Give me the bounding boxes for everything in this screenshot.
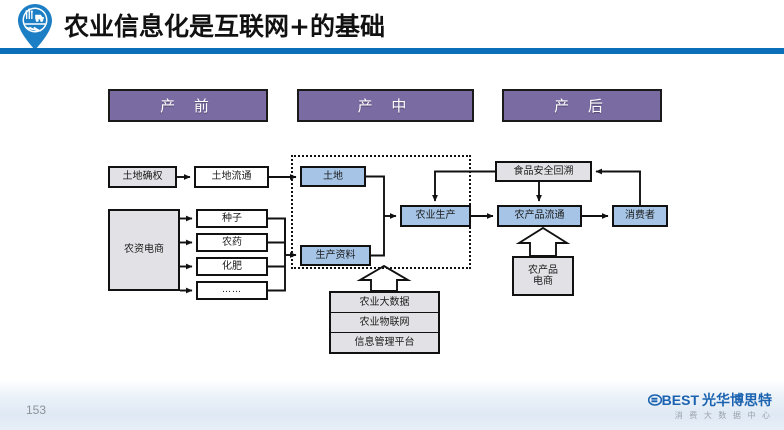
node-information-platform-stack: 农业大数据农业物联网信息管理平台 [329, 291, 440, 354]
node-produce-ecom-line: 电商 [533, 276, 553, 288]
brand-eye-icon [648, 393, 662, 407]
diagram-nodes: 土地确权土地流通农资电商种子农药化肥……土地生产资料农业生产食品安全回溯农产品流… [0, 0, 784, 430]
page-number: 153 [26, 403, 46, 417]
platform-stack-row: 信息管理平台 [331, 333, 438, 352]
node-means-of-production: 生产资料 [300, 245, 371, 266]
node-food-safety-trace: 食品安全回溯 [495, 161, 592, 182]
node-agri-production: 农业生产 [400, 205, 471, 227]
platform-stack-row: 农业物联网 [331, 313, 438, 333]
node-etc: …… [196, 281, 268, 300]
node-pesticide: 农药 [196, 233, 268, 252]
brand-logo: BEST 光华博思特 消 费 大 数 据 中 心 [622, 391, 772, 423]
node-produce-ecom: 农产品电商 [512, 256, 574, 296]
node-produce-circulation: 农产品流通 [497, 205, 582, 227]
node-land: 土地 [300, 166, 366, 187]
node-produce-ecom-line: 农产品 [528, 265, 558, 277]
platform-stack-row: 农业大数据 [331, 293, 438, 313]
node-seed: 种子 [196, 209, 268, 228]
node-land-circulation: 土地流通 [194, 166, 269, 188]
node-fertilizer: 化肥 [196, 257, 268, 276]
node-consumer: 消费者 [612, 205, 668, 227]
brand-subtitle: 消 费 大 数 据 中 心 [622, 410, 772, 421]
slide-canvas: 农业信息化是互联网+的基础 产 前产 中产 后 [0, 0, 784, 430]
node-agri-input-ecom: 农资电商 [108, 209, 180, 291]
brand-name: 光华博思特 [702, 390, 772, 410]
brand-mark: BEST [662, 392, 699, 408]
node-land-rights: 土地确权 [108, 166, 177, 188]
